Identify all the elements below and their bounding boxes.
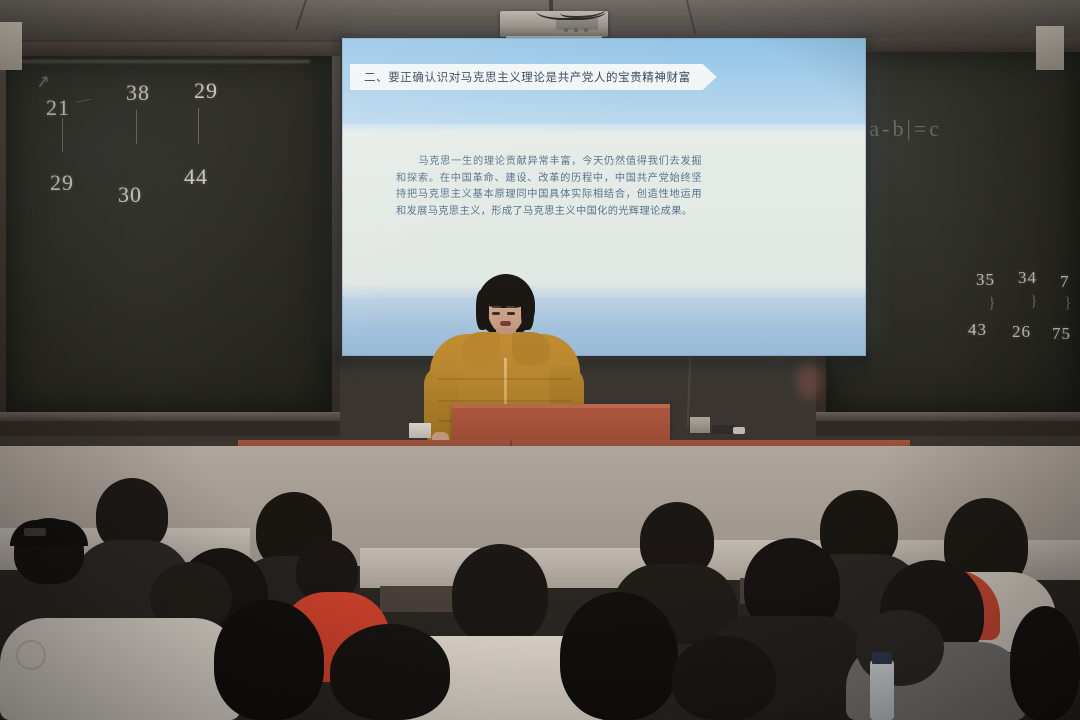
slide-bottom-band bbox=[342, 298, 866, 356]
presenter-hood-left bbox=[462, 332, 500, 366]
lecture-hall-photo: ↗ 21 38 29 29 30 44 — |a-b|=c 35 34 7 } … bbox=[0, 0, 1080, 720]
chalk-dust-left bbox=[10, 60, 310, 63]
chalk-tick-2 bbox=[136, 110, 137, 144]
slide-top-band-fade bbox=[342, 124, 866, 132]
chalk-left-r2c1: 29 bbox=[50, 170, 74, 196]
projector-led-3 bbox=[584, 28, 588, 32]
presenter-eye-right bbox=[507, 312, 515, 315]
chalk-left-r1c2: 38 bbox=[126, 80, 150, 106]
water-bottle-cap bbox=[872, 652, 892, 664]
presentation-slide: 二、要正确认识对马克思主义理论是共产党人的宝贵精神财富 马克思一生的理论贡献异常… bbox=[342, 38, 866, 356]
student-head bbox=[214, 600, 324, 720]
presenter-hood-right bbox=[512, 332, 550, 366]
slide-title-banner: 二、要正确认识对马克思主义理论是共产党人的宝贵精神财富 bbox=[350, 64, 717, 90]
chalk-right-r1c1: 35 bbox=[976, 270, 995, 290]
presenter-jacket-seam-1 bbox=[438, 378, 572, 380]
chalk-right-r2c1: 43 bbox=[968, 320, 987, 340]
student-head bbox=[560, 592, 678, 720]
chalk-left-r2c3: 44 bbox=[184, 164, 208, 190]
presenter-eye-left bbox=[492, 312, 500, 315]
chalk-left-r2c2: 30 bbox=[118, 182, 142, 208]
wall-speaker-left bbox=[0, 22, 22, 70]
chalk-right-r2c3: 75 bbox=[1052, 324, 1071, 344]
slide-title: 二、要正确认识对马克思主义理论是共产党人的宝贵精神财富 bbox=[364, 69, 691, 85]
chalk-piece-icon bbox=[733, 427, 745, 434]
hoodie-logo-icon bbox=[16, 640, 46, 670]
wall-speaker-right bbox=[1036, 26, 1064, 70]
projector-led-2 bbox=[574, 28, 578, 32]
student-head bbox=[452, 544, 548, 644]
slide-body-content: 马克思一生的理论贡献异常丰富，今天仍然值得我们去发掘和探索。在中国革命、建设、改… bbox=[396, 156, 702, 217]
chalk-smudge-left: — bbox=[74, 91, 93, 111]
chalk-left-r1c3: 29 bbox=[194, 78, 218, 104]
cap-logo-icon bbox=[24, 528, 46, 536]
student-head bbox=[1010, 606, 1080, 720]
presenter-hair-left bbox=[476, 290, 489, 330]
left-blackboard-rail bbox=[0, 42, 340, 56]
slide-bottom-fade bbox=[342, 284, 866, 298]
podium-edge bbox=[452, 404, 670, 408]
chalk-tick-3 bbox=[198, 108, 199, 144]
student-head bbox=[330, 624, 450, 720]
student-head bbox=[672, 636, 776, 720]
cap-icon bbox=[10, 520, 88, 546]
water-bottle bbox=[870, 660, 894, 720]
chalk-right-r1c3: 7 bbox=[1060, 272, 1070, 292]
wall-stain-2 bbox=[796, 360, 822, 400]
chalk-right-r2c2: 26 bbox=[1012, 322, 1031, 342]
presenter-mouth bbox=[500, 321, 511, 326]
chalk-mark-arrow: ↗ bbox=[35, 71, 53, 93]
chalk-box-second-icon bbox=[690, 417, 710, 433]
projection-screen: 二、要正确认识对马克思主义理论是共产党人的宝贵精神财富 马克思一生的理论贡献异常… bbox=[342, 38, 866, 356]
chalk-left-r1c1: 21 bbox=[46, 95, 70, 121]
chalk-right-sym-1: } bbox=[988, 295, 997, 313]
left-blackboard-ledge bbox=[0, 412, 340, 421]
projector-led-1 bbox=[564, 28, 568, 32]
chalk-right-sym-3: } bbox=[1064, 295, 1073, 313]
ceiling-seam bbox=[295, 0, 307, 30]
chalk-tick-1 bbox=[62, 118, 63, 152]
presenter-brow-right bbox=[506, 306, 515, 308]
slide-body-text: 马克思一生的理论贡献异常丰富，今天仍然值得我们去发掘和探索。在中国革命、建设、改… bbox=[396, 154, 702, 220]
chalk-right-equation: |a-b|=c bbox=[862, 116, 942, 142]
presenter-jacket-seam-2 bbox=[438, 400, 572, 402]
ceiling-seam-secondary bbox=[686, 0, 696, 34]
chalk-right-r1c2: 34 bbox=[1018, 268, 1037, 288]
chalk-right-sym-2: } bbox=[1030, 293, 1039, 311]
presenter-hair-right bbox=[521, 290, 534, 330]
presenter-brow-left bbox=[492, 306, 501, 308]
